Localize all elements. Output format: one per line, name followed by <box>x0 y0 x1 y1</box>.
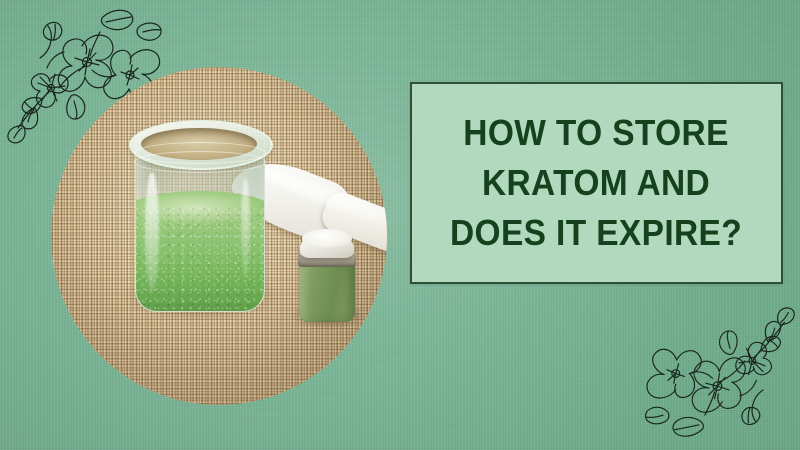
title-line-1: HOW TO STORE <box>450 108 742 158</box>
small-jar <box>295 224 359 332</box>
floral-decoration-bottom-right-icon <box>633 300 798 450</box>
title-box: HOW TO STORE KRATOM AND DOES IT EXPIRE? <box>410 82 783 284</box>
article-header-banner: HOW TO STORE KRATOM AND DOES IT EXPIRE? <box>0 0 800 450</box>
page-title: HOW TO STORE KRATOM AND DOES IT EXPIRE? <box>429 108 763 258</box>
title-line-2: KRATOM AND <box>450 158 742 208</box>
title-line-3: DOES IT EXPIRE? <box>450 208 742 258</box>
glass-jar <box>129 120 269 316</box>
hero-photo-circle <box>51 67 387 405</box>
